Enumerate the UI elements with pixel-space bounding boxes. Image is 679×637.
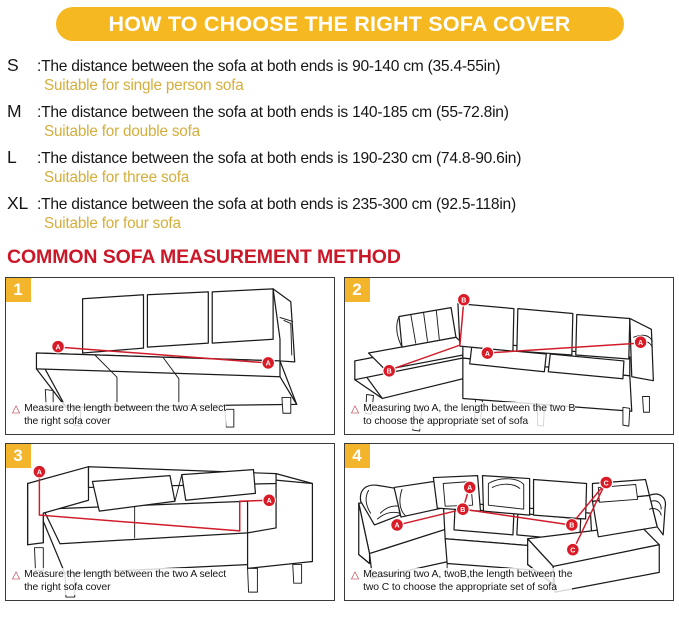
- size-code: XL: [7, 193, 37, 214]
- panel-number-badge: 3: [5, 443, 31, 468]
- svg-text:A: A: [55, 343, 60, 351]
- svg-text:A: A: [37, 468, 42, 476]
- header-banner: HOW TO CHOOSE THE RIGHT SOFA COVER: [56, 7, 624, 41]
- measurement-panel-grid: 1: [0, 277, 679, 601]
- size-description: :The distance between the sofa at both e…: [37, 104, 509, 122]
- panel-caption-text: Measuring two A, the length between the …: [363, 402, 575, 429]
- size-guide-list: S :The distance between the sofa at both…: [0, 55, 679, 233]
- svg-text:A: A: [394, 522, 399, 530]
- size-note: Suitable for single person sofa: [44, 77, 679, 95]
- size-row-s: S :The distance between the sofa at both…: [7, 55, 679, 95]
- measurement-panel-3: 3: [5, 443, 335, 601]
- warning-triangle-icon: △: [351, 404, 359, 415]
- measurement-panel-1: 1: [5, 277, 335, 435]
- panel-caption: △ Measure the length between the two A s…: [12, 568, 226, 595]
- size-line: L :The distance between the sofa at both…: [7, 147, 679, 168]
- svg-text:C: C: [604, 479, 609, 487]
- size-description: :The distance between the sofa at both e…: [37, 150, 521, 168]
- size-note: Suitable for three sofa: [44, 169, 679, 187]
- warning-triangle-icon: △: [12, 570, 20, 581]
- svg-text:A: A: [266, 360, 271, 368]
- size-description: :The distance between the sofa at both e…: [37, 196, 516, 214]
- size-code: S: [7, 55, 37, 76]
- svg-text:B: B: [460, 506, 465, 514]
- svg-text:C: C: [570, 546, 575, 554]
- size-note: Suitable for four sofa: [44, 215, 679, 233]
- size-line: M :The distance between the sofa at both…: [7, 101, 679, 122]
- section-title: COMMON SOFA MEASUREMENT METHOD: [0, 246, 679, 269]
- svg-text:B: B: [461, 296, 466, 304]
- svg-text:A: A: [267, 497, 272, 505]
- panel-caption: △ Measure the length between the two A s…: [12, 402, 226, 429]
- warning-triangle-icon: △: [12, 404, 20, 415]
- svg-text:A: A: [467, 484, 472, 492]
- size-code: M: [7, 101, 37, 122]
- panel-caption: △ Measuring two A, the length between th…: [351, 402, 575, 429]
- svg-text:B: B: [569, 522, 574, 530]
- svg-text:A: A: [485, 350, 490, 358]
- panel-number-badge: 2: [344, 277, 370, 302]
- size-row-xl: XL :The distance between the sofa at bot…: [7, 193, 679, 233]
- panel-caption-text: Measuring two A, twoB,the length between…: [363, 568, 572, 595]
- panel-caption: △ Measuring two A, twoB,the length betwe…: [351, 568, 572, 595]
- measurement-panel-4: 4: [344, 443, 674, 601]
- svg-text:A: A: [638, 339, 643, 347]
- panel-number-badge: 4: [344, 443, 370, 468]
- panel-number-badge: 1: [5, 277, 31, 302]
- size-code: L: [7, 147, 37, 168]
- measurement-panel-2: 2: [344, 277, 674, 435]
- page-title: HOW TO CHOOSE THE RIGHT SOFA COVER: [109, 12, 571, 37]
- size-description: :The distance between the sofa at both e…: [37, 58, 500, 76]
- size-line: XL :The distance between the sofa at bot…: [7, 193, 679, 214]
- panel-caption-text: Measure the length between the two A sel…: [24, 568, 226, 595]
- header-banner-wrap: HOW TO CHOOSE THE RIGHT SOFA COVER: [0, 0, 679, 41]
- svg-text:B: B: [387, 368, 392, 376]
- size-note: Suitable for double sofa: [44, 123, 679, 141]
- warning-triangle-icon: △: [351, 570, 359, 581]
- panel-caption-text: Measure the length between the two A sel…: [24, 402, 226, 429]
- size-row-m: M :The distance between the sofa at both…: [7, 101, 679, 141]
- size-row-l: L :The distance between the sofa at both…: [7, 147, 679, 187]
- size-line: S :The distance between the sofa at both…: [7, 55, 679, 76]
